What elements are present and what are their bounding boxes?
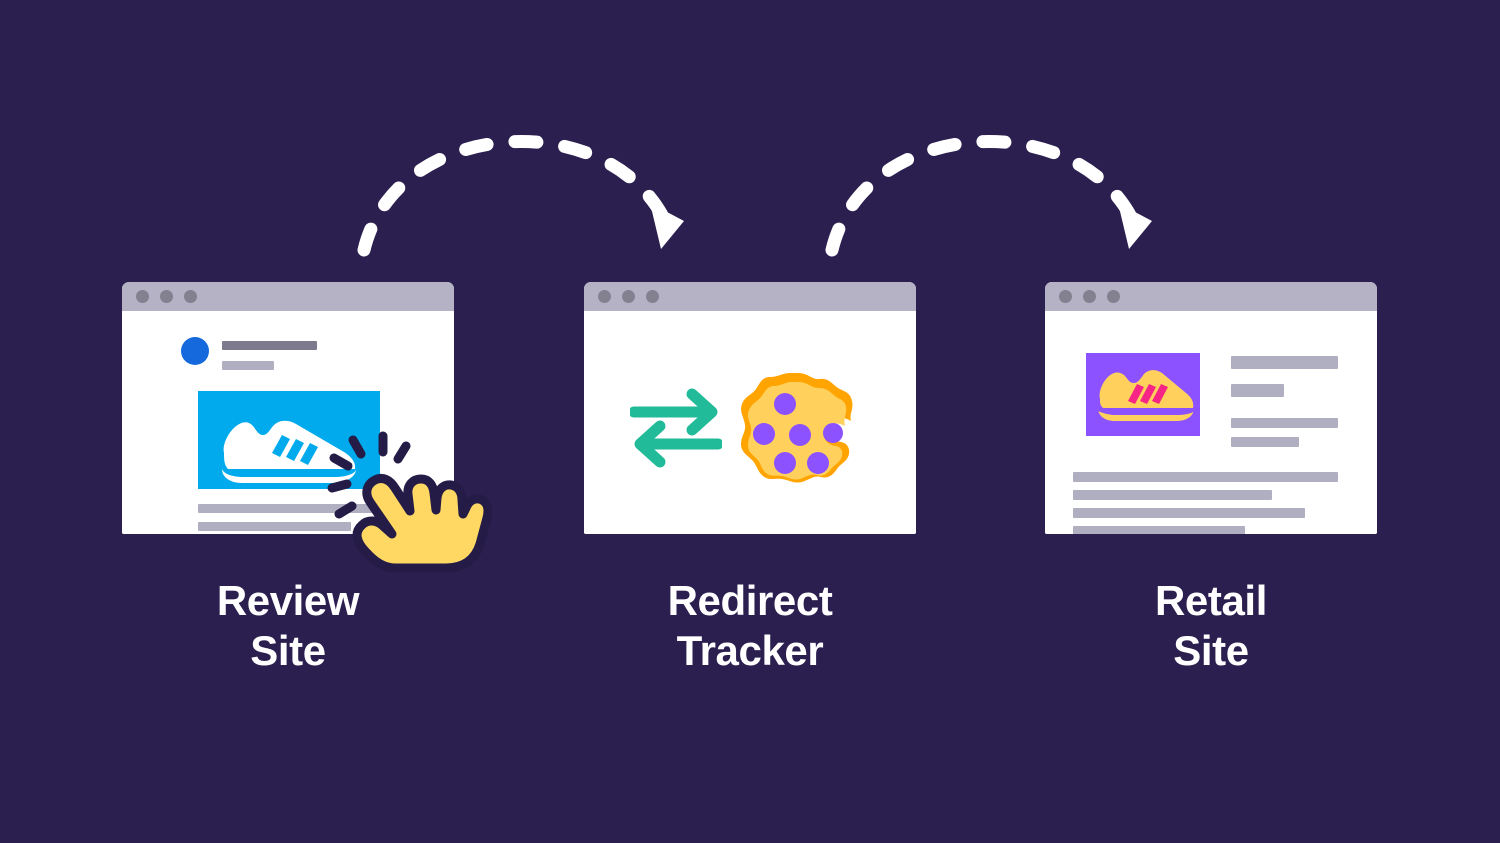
hero-image-blue-banner	[198, 391, 380, 489]
window-close-dot-icon	[598, 290, 611, 303]
sneaker-icon	[1086, 353, 1200, 436]
browser-titlebar	[584, 282, 916, 311]
skeleton-bar	[198, 522, 351, 531]
bidirectional-swap-arrows-icon	[630, 388, 722, 468]
skeleton-bar	[198, 504, 380, 513]
browser-content-redirect-tracker	[584, 311, 916, 534]
browser-content-retail-site	[1045, 311, 1377, 534]
window-close-dot-icon	[1059, 290, 1072, 303]
skeleton-bar	[1231, 384, 1284, 397]
skeleton-bar	[222, 361, 274, 370]
skeleton-bar	[1231, 418, 1338, 428]
browser-window-review-site	[122, 282, 454, 534]
node-label-redirect-tracker: Redirect Tracker	[584, 576, 916, 675]
browser-window-retail-site	[1045, 282, 1377, 534]
cookie-chip	[823, 423, 843, 443]
window-close-dot-icon	[136, 290, 149, 303]
skeleton-bar	[222, 341, 317, 350]
window-maximize-dot-icon	[1107, 290, 1120, 303]
node-retail-site: Retail Site	[1045, 282, 1377, 675]
cookie-chip	[753, 423, 775, 445]
node-review-site: Review Site	[122, 282, 454, 675]
skeleton-bar	[1073, 526, 1245, 534]
cookie-chip	[807, 452, 829, 474]
skeleton-bar	[1231, 356, 1338, 369]
arrow-redirect-to-retail	[832, 142, 1152, 250]
skeleton-bar	[1073, 508, 1305, 518]
user-avatar-circle	[181, 337, 209, 365]
browser-titlebar	[122, 282, 454, 311]
sneaker-icon	[198, 391, 380, 489]
browser-titlebar	[1045, 282, 1377, 311]
skeleton-bar	[1073, 490, 1272, 500]
cookie-with-bite-icon	[737, 371, 859, 491]
browser-content-review-site	[122, 311, 454, 534]
skeleton-bar	[1231, 437, 1299, 447]
window-minimize-dot-icon	[160, 290, 173, 303]
window-minimize-dot-icon	[1083, 290, 1096, 303]
diagram-canvas: Review Site	[0, 0, 1500, 843]
cookie-chip	[774, 452, 796, 474]
window-maximize-dot-icon	[646, 290, 659, 303]
window-minimize-dot-icon	[622, 290, 635, 303]
product-thumbnail-purple	[1086, 353, 1200, 436]
skeleton-bar	[1073, 472, 1338, 482]
node-label-retail-site: Retail Site	[1045, 576, 1377, 675]
node-label-review-site: Review Site	[122, 576, 454, 675]
node-redirect-tracker: Redirect Tracker	[584, 282, 916, 675]
arrow-review-to-redirect	[364, 142, 684, 250]
browser-window-redirect-tracker	[584, 282, 916, 534]
cookie-chip	[789, 424, 811, 446]
window-maximize-dot-icon	[184, 290, 197, 303]
cookie-chip	[774, 393, 796, 415]
